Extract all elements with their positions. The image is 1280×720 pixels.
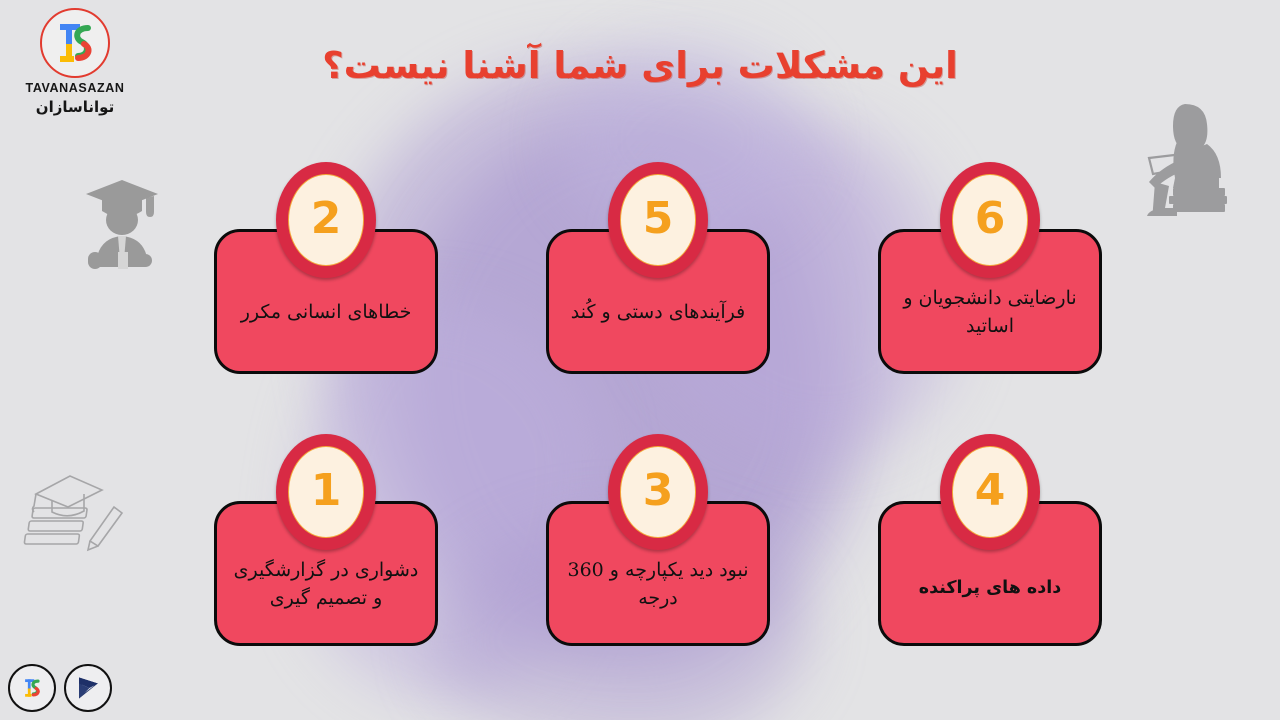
problem-card[interactable]: 5 فرآیندهای دستی و کُند	[546, 229, 770, 374]
card-text: دشواری در گزارشگیری و تصمیم گیری	[227, 504, 425, 643]
problem-card[interactable]: 6 نارضایتی دانشجویان و اساتید	[878, 229, 1102, 374]
card-text: داده های پراکنده	[891, 504, 1089, 643]
card-text: فرآیندهای دستی و کُند	[559, 232, 757, 371]
slide-canvas: TAVANASAZAN تواناسازان این مشکلات برای ش…	[0, 0, 1280, 720]
footer-logo-group	[8, 664, 112, 712]
cards-grid: 2 خطاهای انسانی مکرر 5 فرآیندهای دستی و …	[0, 0, 1280, 720]
problem-card[interactable]: 2 خطاهای انسانی مکرر	[214, 229, 438, 374]
card-text: نارضایتی دانشجویان و اساتید	[891, 232, 1089, 371]
card-text: خطاهای انسانی مکرر	[227, 232, 425, 371]
page-title: این مشکلات برای شما آشنا نیست؟	[0, 44, 1280, 87]
problem-card[interactable]: 4 داده های پراکنده	[878, 501, 1102, 646]
dynamics-arrow-logo-icon[interactable]	[64, 664, 112, 712]
ts-monogram-logo-icon[interactable]	[8, 664, 56, 712]
problem-card[interactable]: 1 دشواری در گزارشگیری و تصمیم گیری	[214, 501, 438, 646]
problem-card[interactable]: 3 نبود دید یکپارچه و 360 درجه	[546, 501, 770, 646]
card-text: نبود دید یکپارچه و 360 درجه	[559, 504, 757, 643]
brand-name-fa: تواناسازان	[10, 98, 140, 116]
